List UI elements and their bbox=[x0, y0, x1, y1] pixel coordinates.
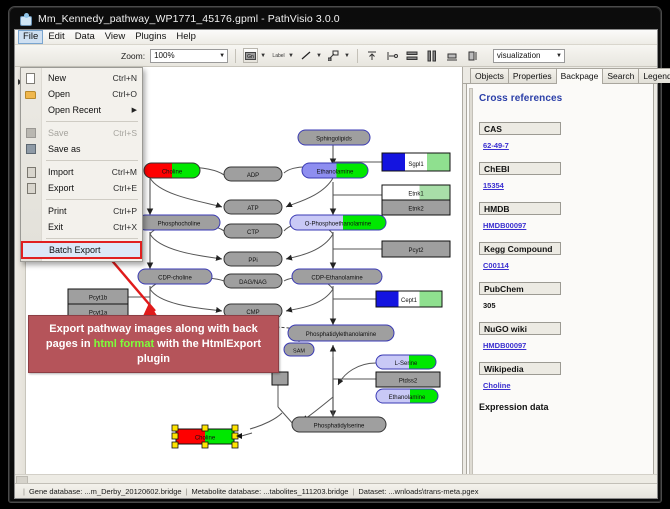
xref-source-label: Kegg Compound bbox=[479, 242, 561, 255]
save-icon bbox=[25, 127, 37, 139]
menu-item-label: New bbox=[48, 73, 113, 83]
distribute-horizontal-icon[interactable] bbox=[425, 48, 440, 63]
node-dag-nag[interactable]: DAG/NAG bbox=[224, 274, 282, 288]
same-height-icon[interactable] bbox=[465, 48, 480, 63]
xref-kegg-compound: Kegg Compound C00114 bbox=[479, 242, 653, 273]
same-width-icon[interactable] bbox=[445, 48, 460, 63]
node-phosphatidylethanolamine[interactable]: Phosphatidylethanolamine bbox=[288, 325, 394, 341]
svg-text:Etnk1: Etnk1 bbox=[408, 192, 424, 198]
menu-item-label: Export bbox=[48, 183, 113, 193]
xref-value-link[interactable]: HMDB00097 bbox=[483, 341, 526, 350]
chevron-down-icon: ▼ bbox=[219, 53, 225, 59]
backpage-content: Cross references CAS 62-49-7 ChEBI 15354… bbox=[466, 84, 654, 482]
svg-text:CTP: CTP bbox=[247, 230, 259, 236]
expression-data-heading: Expression data bbox=[479, 402, 653, 412]
menu-edit[interactable]: Edit bbox=[43, 30, 69, 44]
save-as-icon bbox=[25, 143, 37, 155]
menu-item-import[interactable]: Import Ctrl+M bbox=[21, 164, 142, 180]
xref-chebi: ChEBI 15354 bbox=[479, 162, 653, 193]
node-ptdss2[interactable]: Ptdss2 bbox=[376, 372, 440, 387]
svg-text:Pcyt1b: Pcyt1b bbox=[89, 296, 108, 302]
xref-value-text: 305 bbox=[483, 301, 496, 310]
xref-hmdb: HMDB HMDB00097 bbox=[479, 202, 653, 233]
node-atp[interactable]: ATP bbox=[224, 200, 282, 214]
xref-source-label: PubChem bbox=[479, 282, 561, 295]
file-menu-dropdown[interactable]: New Ctrl+N Open Ctrl+O Open Recent ▶ Sav… bbox=[20, 67, 143, 262]
line-icon[interactable] bbox=[299, 48, 314, 63]
label-icon[interactable]: Label bbox=[271, 48, 286, 63]
menu-separator bbox=[46, 160, 138, 161]
tab-backpage[interactable]: Backpage bbox=[556, 68, 604, 84]
menubar: File Edit Data View Plugins Help bbox=[15, 30, 657, 45]
svg-text:Choline: Choline bbox=[162, 170, 183, 176]
menu-item-accel: Ctrl+S bbox=[113, 128, 137, 138]
menu-item-accel: Ctrl+N bbox=[113, 73, 137, 83]
node-pcyt2[interactable]: Pcyt2 bbox=[382, 241, 450, 257]
annotation-callout: Export pathway images along with back pa… bbox=[28, 315, 279, 373]
node-adp[interactable]: ADP bbox=[224, 167, 282, 181]
menu-help[interactable]: Help bbox=[171, 30, 201, 44]
menu-item-open[interactable]: Open Ctrl+O bbox=[21, 86, 142, 102]
node-phosphocholine[interactable]: Phosphocholine bbox=[138, 215, 220, 230]
new-file-icon bbox=[25, 72, 37, 84]
node-pemt-small[interactable] bbox=[272, 372, 288, 385]
label-text: Label bbox=[272, 53, 284, 59]
menu-file[interactable]: File bbox=[18, 30, 43, 44]
node-choline-bottom[interactable]: Choline bbox=[172, 413, 282, 448]
menu-item-new[interactable]: New Ctrl+N bbox=[21, 70, 142, 86]
pathvisio-icon bbox=[19, 13, 32, 26]
menu-item-open-recent[interactable]: Open Recent ▶ bbox=[21, 102, 142, 118]
svg-text:Cept1: Cept1 bbox=[401, 298, 418, 304]
xref-wikipedia: Wikipedia Choline bbox=[479, 362, 653, 393]
open-folder-icon bbox=[25, 88, 37, 100]
node-ctp[interactable]: CTP bbox=[224, 224, 282, 238]
backpage-scrollbar[interactable] bbox=[469, 88, 473, 477]
label-dropdown-icon[interactable]: ▼ bbox=[288, 53, 294, 59]
svg-text:Phosphatidylserine: Phosphatidylserine bbox=[314, 424, 365, 430]
import-icon bbox=[25, 166, 37, 178]
svg-text:Phosphocholine: Phosphocholine bbox=[158, 222, 201, 228]
visualization-combo[interactable]: visualization ▼ bbox=[493, 49, 565, 63]
line-dropdown-icon[interactable]: ▼ bbox=[316, 53, 322, 59]
xref-source-label: HMDB bbox=[479, 202, 561, 215]
menu-item-label: Save bbox=[48, 128, 113, 138]
statusbar-gene-database: Gene database: ...m_Derby_20120602.bridg… bbox=[29, 487, 182, 496]
svg-text:ADP: ADP bbox=[247, 173, 259, 179]
zoom-combo[interactable]: 100% ▼ bbox=[150, 49, 228, 63]
menu-view[interactable]: View bbox=[100, 30, 130, 44]
statusbar-dataset: Dataset: ...wnloads\trans-meta.pgex bbox=[358, 487, 478, 496]
menu-data[interactable]: Data bbox=[70, 30, 100, 44]
svg-text:CDP-Ethanolamine: CDP-Ethanolamine bbox=[311, 276, 363, 282]
menu-item-label: Exit bbox=[48, 222, 113, 232]
xref-value-link[interactable]: 15354 bbox=[483, 181, 504, 190]
xref-source-label: CAS bbox=[479, 122, 561, 135]
node-ethanolamine-bottom[interactable]: Ethanolamine bbox=[376, 389, 438, 403]
node-cept1[interactable]: Cept1 bbox=[376, 291, 442, 307]
node-etnk2[interactable]: Etnk2 bbox=[382, 200, 450, 215]
svg-text:Choline: Choline bbox=[195, 436, 216, 442]
horizontal-scrollbar[interactable] bbox=[15, 474, 657, 483]
xref-value-link[interactable]: Choline bbox=[483, 381, 511, 390]
gene-product-icon[interactable]: Gn bbox=[243, 48, 258, 63]
node-etnk1[interactable]: Etnk1 bbox=[382, 185, 450, 200]
svg-text:ATP: ATP bbox=[247, 206, 258, 212]
node-ethanolamine-top[interactable]: Ethanolamine bbox=[302, 163, 368, 178]
export-icon bbox=[25, 182, 37, 194]
svg-text:Pcyt2: Pcyt2 bbox=[408, 248, 424, 254]
xref-source-label: NuGO wiki bbox=[479, 322, 561, 335]
statusbar-separator: | bbox=[186, 487, 188, 496]
xref-pubchem: PubChem 305 bbox=[479, 282, 653, 313]
node-pcyt1b[interactable]: Pcyt1b bbox=[68, 289, 128, 304]
svg-text:Ptdss2: Ptdss2 bbox=[399, 379, 418, 385]
svg-text:Etnk2: Etnk2 bbox=[408, 207, 424, 213]
xref-source-label: ChEBI bbox=[479, 162, 561, 175]
node-sgpl1[interactable]: Sgpl1 bbox=[382, 153, 450, 171]
node-sphingolipids[interactable]: Sphingolipids bbox=[298, 130, 370, 145]
side-panel-tabs: Objects Properties Backpage Search Legen… bbox=[463, 67, 657, 84]
zoom-label: Zoom: bbox=[121, 51, 145, 61]
menu-item-label: Open bbox=[48, 89, 112, 99]
menu-item-label: Import bbox=[48, 167, 112, 177]
callout-text-after: with the HtmlExport plugin bbox=[137, 338, 261, 365]
xref-value-link[interactable]: HMDB00097 bbox=[483, 221, 526, 230]
statusbar-metabolite-database: Metabolite database: ...tabolites_111203… bbox=[192, 487, 349, 496]
svg-text:Sphingolipids: Sphingolipids bbox=[316, 137, 352, 143]
gene-dropdown-icon[interactable]: ▼ bbox=[260, 53, 266, 59]
xref-cas: CAS 62-49-7 bbox=[479, 122, 653, 153]
menu-plugins[interactable]: Plugins bbox=[130, 30, 171, 44]
svg-text:CDP-choline: CDP-choline bbox=[158, 276, 192, 282]
submenu-arrow-icon: ▶ bbox=[132, 106, 137, 114]
menu-item-save-as[interactable]: Save as bbox=[21, 141, 142, 157]
receptor-dropdown-icon[interactable]: ▼ bbox=[344, 53, 350, 59]
statusbar-separator: | bbox=[352, 487, 354, 496]
tab-objects[interactable]: Objects bbox=[470, 68, 509, 83]
svg-text:Ethanolamine: Ethanolamine bbox=[317, 170, 354, 176]
visualization-value: visualization bbox=[497, 51, 541, 60]
node-l-serine[interactable]: L-Serine bbox=[376, 355, 436, 369]
align-left-icon[interactable] bbox=[385, 48, 400, 63]
menu-item-label: Batch Export bbox=[49, 245, 136, 255]
window-title: Mm_Kennedy_pathway_WP1771_45176.gpml - P… bbox=[38, 13, 340, 25]
menu-separator bbox=[46, 121, 138, 122]
menu-item-export[interactable]: Export Ctrl+E bbox=[21, 180, 142, 196]
node-phosphatidylserine[interactable]: Phosphatidylserine bbox=[292, 417, 386, 432]
distribute-vertical-icon[interactable] bbox=[405, 48, 420, 63]
menu-item-batch-export[interactable]: Batch Export bbox=[22, 242, 141, 258]
application-client-area: File Edit Data View Plugins Help Zoom: 1… bbox=[14, 29, 658, 499]
node-ppi[interactable]: PPi bbox=[224, 252, 282, 266]
node-sam[interactable]: SAM bbox=[284, 343, 314, 356]
menu-item-label: Open Recent bbox=[48, 105, 132, 115]
menu-item-accel: Ctrl+O bbox=[112, 89, 137, 99]
menu-item-save: Save Ctrl+S bbox=[21, 125, 142, 141]
tab-properties[interactable]: Properties bbox=[508, 68, 557, 83]
node-o-phosphoethanolamine[interactable]: O-Phosphoethanolamine bbox=[290, 215, 386, 230]
callout-text-highlight: html format bbox=[94, 338, 155, 350]
node-cdp-choline[interactable]: CDP-choline bbox=[138, 269, 212, 284]
node-choline-top[interactable]: Choline bbox=[144, 163, 200, 178]
toolbar-separator-2 bbox=[357, 49, 358, 63]
align-top-icon[interactable] bbox=[365, 48, 380, 63]
menu-item-label: Print bbox=[48, 206, 113, 216]
menu-separator bbox=[46, 199, 138, 200]
toolbar: Zoom: 100% ▼ Gn ▼ Label ▼ ▼ bbox=[15, 45, 657, 67]
menu-item-print[interactable]: Print Ctrl+P bbox=[21, 203, 142, 219]
tab-search[interactable]: Search bbox=[602, 68, 639, 83]
menu-item-accel: Ctrl+X bbox=[113, 222, 137, 232]
menu-item-accel: Ctrl+P bbox=[113, 206, 137, 216]
menu-separator bbox=[46, 238, 138, 239]
svg-text:PPi: PPi bbox=[248, 258, 257, 264]
xref-value-link[interactable]: C00114 bbox=[483, 261, 509, 270]
window-titlebar[interactable]: Mm_Kennedy_pathway_WP1771_45176.gpml - P… bbox=[9, 7, 661, 31]
zoom-value: 100% bbox=[154, 51, 174, 60]
xref-value-link[interactable]: 62-49-7 bbox=[483, 141, 509, 150]
node-cdp-ethanolamine[interactable]: CDP-Ethanolamine bbox=[292, 269, 382, 284]
svg-text:DAG/NAG: DAG/NAG bbox=[239, 280, 267, 286]
application-window: Mm_Kennedy_pathway_WP1771_45176.gpml - P… bbox=[8, 6, 662, 503]
svg-text:Gn: Gn bbox=[247, 54, 254, 60]
svg-text:Ethanolamine: Ethanolamine bbox=[389, 395, 426, 401]
svg-text:L-Serine: L-Serine bbox=[395, 361, 418, 367]
tab-legend[interactable]: Legend bbox=[638, 68, 670, 83]
chevron-down-icon: ▼ bbox=[556, 53, 562, 59]
menu-item-label: Save as bbox=[48, 144, 137, 154]
receptor-icon[interactable] bbox=[327, 48, 342, 63]
toolbar-separator bbox=[235, 49, 236, 63]
svg-text:Phosphatidylethanolamine: Phosphatidylethanolamine bbox=[306, 332, 377, 338]
screenshot-root: Mm_Kennedy_pathway_WP1771_45176.gpml - P… bbox=[0, 0, 670, 509]
xref-nugo-wiki: NuGO wiki HMDB00097 bbox=[479, 322, 653, 353]
menu-item-exit[interactable]: Exit Ctrl+X bbox=[21, 219, 142, 235]
svg-text:SAM: SAM bbox=[293, 349, 305, 355]
svg-text:Sgpl1: Sgpl1 bbox=[408, 162, 424, 168]
menu-item-accel: Ctrl+M bbox=[112, 167, 137, 177]
side-panel: Objects Properties Backpage Search Legen… bbox=[463, 67, 657, 485]
statusbar: | Gene database: ...m_Derby_20120602.bri… bbox=[15, 483, 657, 498]
cross-references-title: Cross references bbox=[479, 93, 653, 104]
statusbar-separator: | bbox=[23, 487, 25, 496]
svg-text:O-Phosphoethanolamine: O-Phosphoethanolamine bbox=[305, 222, 372, 228]
xref-source-label: Wikipedia bbox=[479, 362, 561, 375]
menu-item-accel: Ctrl+E bbox=[113, 183, 137, 193]
